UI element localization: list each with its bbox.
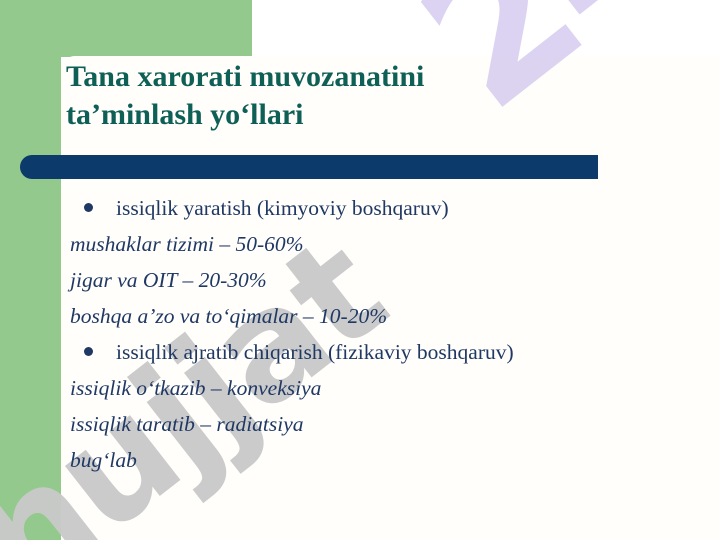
bullet-list-item: issiqlik yaratish (kimyoviy boshqaruv) [70, 190, 690, 226]
sub-text-line: jigar va OIT – 20-30% [70, 262, 690, 298]
green-sidebar-accent [0, 0, 61, 540]
bullet-dot-icon [84, 203, 93, 212]
content-list: issiqlik yaratish (kimyoviy boshqaruv)mu… [70, 190, 690, 478]
slide-title-line-2: ta’minlash yo‘llari [66, 96, 646, 134]
sub-text-line: issiqlik o‘tkazib – konveksiya [70, 370, 690, 406]
green-top-accent [0, 0, 252, 57]
slide-title-line-1: Tana xarorati muvozanatini [66, 58, 646, 96]
bullet-list-item-label: issiqlik yaratish (kimyoviy boshqaruv) [84, 190, 449, 226]
bullet-dot-icon [84, 347, 93, 356]
sub-text-line: boshqa a’zo va to‘qimalar – 10-20% [70, 298, 690, 334]
slide-title: Tana xarorati muvozanatini ta’minlash yo… [66, 58, 646, 134]
sub-text-line: issiqlik taratib – radiatsiya [70, 406, 690, 442]
bullet-list-item: issiqlik ajratib chiqarish (fizikaviy bo… [70, 334, 690, 370]
title-divider-bar [20, 155, 598, 179]
sub-text-line: bug‘lab [70, 442, 690, 478]
sub-text-line: mushaklar tizimi – 50-60% [70, 226, 690, 262]
bullet-list-item-label: issiqlik ajratib chiqarish (fizikaviy bo… [84, 334, 514, 370]
slide-canvas: 24 hujjat Tana xarorati muvozanatini ta’… [0, 0, 720, 540]
